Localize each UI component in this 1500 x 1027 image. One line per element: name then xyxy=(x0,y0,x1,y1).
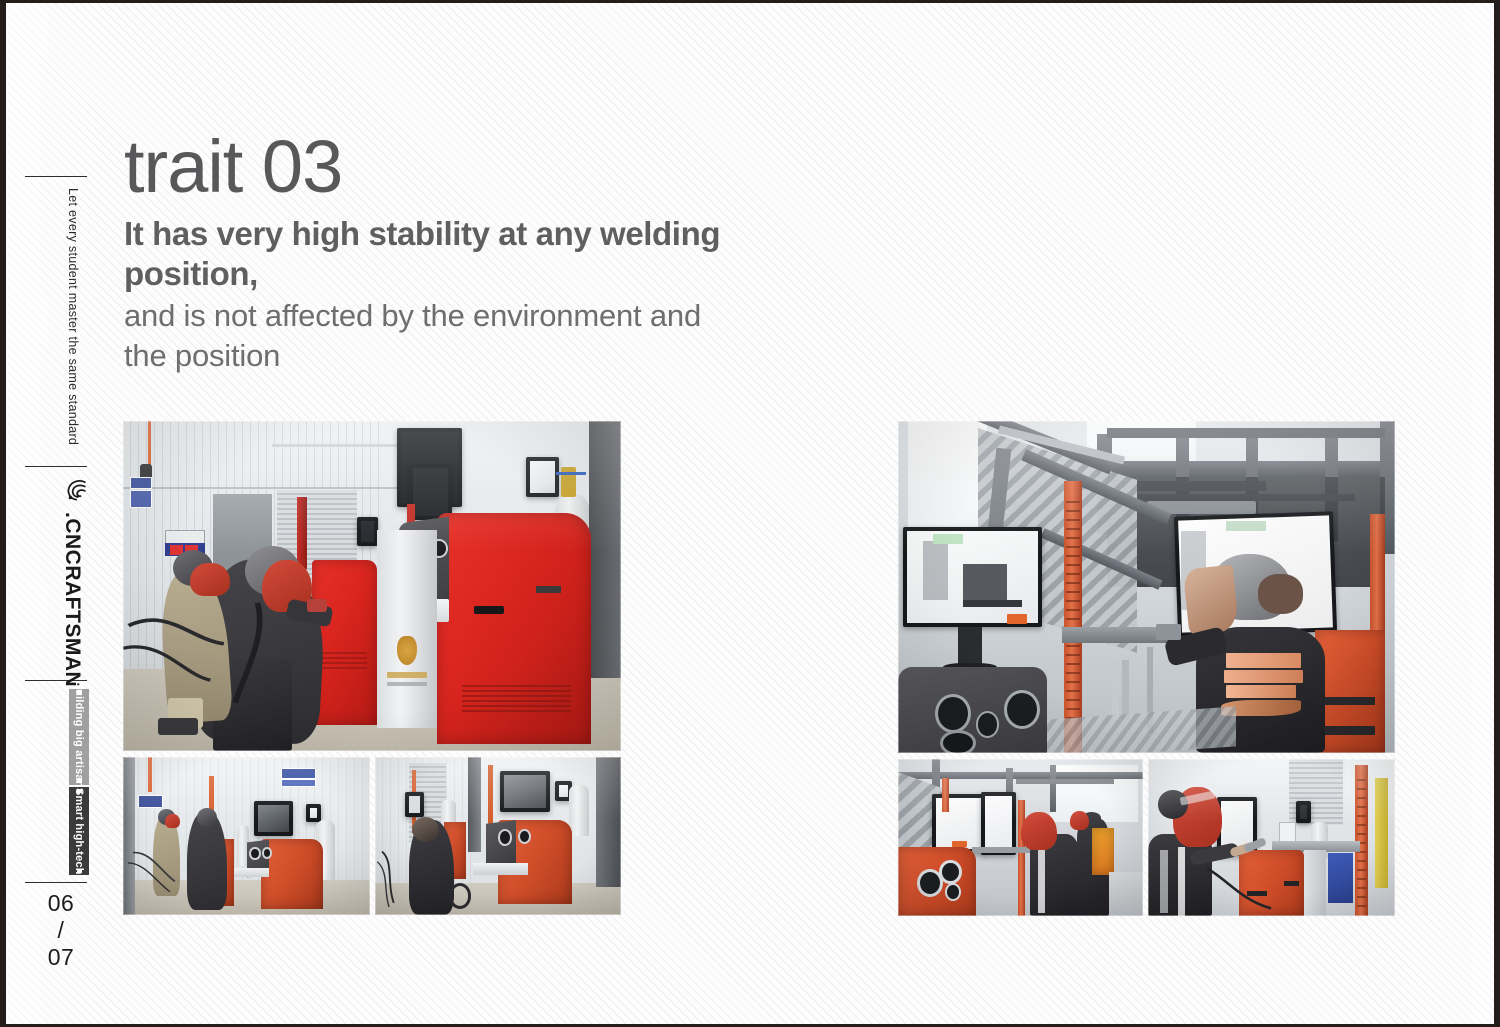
subtitle-strong: It has very high stability at any weldin… xyxy=(124,214,744,294)
page-number-separator: / xyxy=(20,917,102,944)
photo-welding-training-room-main xyxy=(123,421,621,751)
sidebar-brand-name: .CNCRAFTSMAN xyxy=(60,512,84,687)
page-canvas: Let every student master the same standa… xyxy=(6,0,1494,1027)
photo-factory-welder-main xyxy=(898,421,1395,753)
photo-students-observing xyxy=(898,759,1143,916)
sidebar-tagline: Let every student master the same standa… xyxy=(66,188,80,445)
headline-block: trait 03 It has very high stability at a… xyxy=(124,128,744,376)
page-edge-right xyxy=(1494,0,1500,1027)
page-number: 06 / 07 xyxy=(20,890,102,971)
page-edge-left xyxy=(0,0,6,1027)
badge-artisans-label: Building big artisans xyxy=(73,681,85,794)
spiral-swirl-logo-icon xyxy=(63,476,91,504)
badge-smart-label: Smart high-tech xyxy=(73,788,85,875)
subtitle-light: and is not affected by the environment a… xyxy=(124,296,744,376)
badge-building-big-artisans: Building big artisans xyxy=(69,689,89,785)
page-number-total: 07 xyxy=(20,944,102,971)
page-edge-top xyxy=(0,0,1500,3)
left-sidebar: Let every student master the same standa… xyxy=(20,0,102,1027)
photo-student-welding-helmet xyxy=(1148,759,1395,916)
sidebar-divider-top xyxy=(25,176,87,177)
photo-welding-booth-wide xyxy=(123,757,370,915)
sidebar-divider-brand xyxy=(25,466,87,467)
photo-welding-station-closeup xyxy=(375,757,621,915)
sidebar-divider-pagenum xyxy=(25,882,87,883)
badge-smart-high-tech: Smart high-tech xyxy=(69,787,89,875)
page-title: trait 03 xyxy=(124,128,744,206)
page-number-current: 06 xyxy=(20,890,102,917)
